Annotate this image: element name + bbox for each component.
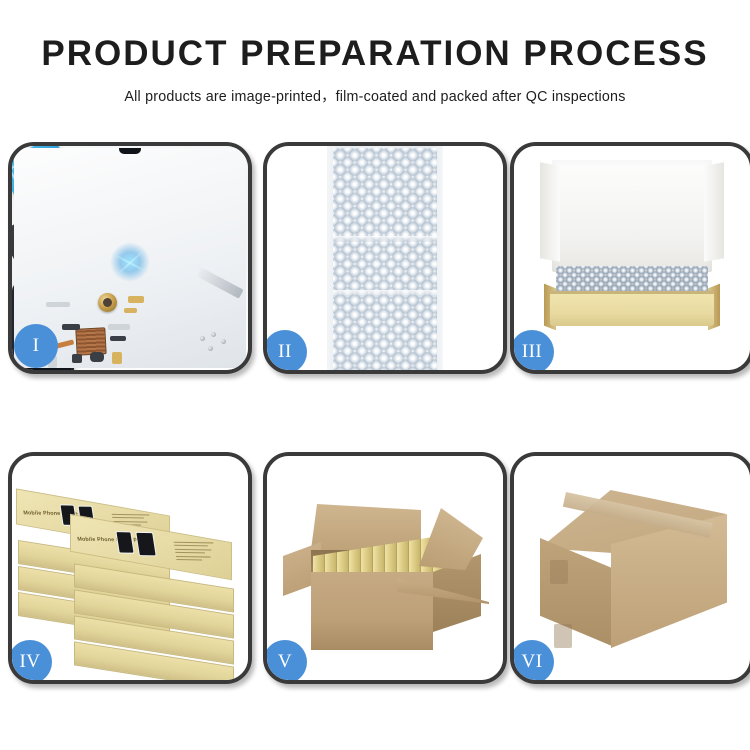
process-step-grid: ●●: [0, 142, 750, 702]
step-6-image: [514, 456, 750, 680]
infographic-page: PRODUCT PREPARATION PROCESS All products…: [0, 0, 750, 750]
phone-image-on-box: [115, 531, 134, 554]
camera-module-part: [72, 354, 82, 363]
page-title: PRODUCT PREPARATION PROCESS: [0, 36, 750, 71]
step-panel-4: Mobile Phone Spare Parts Mobile Phone Sp…: [8, 452, 252, 684]
step-badge-4: IV: [8, 640, 52, 684]
step-badge-2: II: [263, 330, 307, 374]
phone-image-on-box: [135, 532, 157, 557]
speaker-part: [90, 352, 104, 362]
wrap-seam: [333, 236, 437, 242]
page-subtitle: All products are image-printed，film-coat…: [0, 85, 750, 106]
step-panel-3: III: [510, 142, 750, 374]
lid-side-flap-left: [540, 162, 560, 262]
step-panel-6: VI: [510, 452, 750, 684]
step-2-image: [267, 146, 503, 370]
bracket-part: [108, 324, 130, 330]
white-lid-flap: [552, 160, 712, 272]
bubble-texture: [333, 148, 437, 370]
connector-part: [46, 302, 70, 307]
lid-side-flap-right: [704, 162, 724, 262]
battery-connector-part: [112, 352, 122, 364]
carton-left-face: [540, 538, 612, 646]
carton-tab: [554, 624, 572, 648]
step-panel-2: II: [263, 142, 507, 374]
step-badge-6: VI: [510, 640, 554, 684]
step-panel-5: V: [263, 452, 507, 684]
yellow-box-front: [550, 294, 714, 326]
step-3-image: [514, 146, 750, 370]
header: PRODUCT PREPARATION PROCESS All products…: [0, 0, 750, 106]
button-part: [110, 336, 126, 341]
ic-chip-part: [62, 324, 80, 330]
step-panel-1: ●●: [8, 142, 252, 374]
carton-tab: [550, 560, 568, 584]
gold-flex-part: [124, 308, 137, 313]
wrap-seam: [333, 290, 437, 296]
step-5-image: [267, 456, 503, 680]
step-badge-3: III: [510, 330, 554, 374]
step-badge-5: V: [263, 640, 307, 684]
chip-grid-part: [75, 327, 106, 356]
copper-coil-part: [98, 293, 117, 312]
step-badge-1: I: [14, 324, 58, 368]
screws-group: [200, 332, 234, 354]
bubble-wrap-sleeve: [327, 146, 443, 370]
step-4-image: Mobile Phone Spare Parts Mobile Phone Sp…: [12, 456, 248, 680]
gold-flex-part: [128, 296, 144, 303]
box-spec-lines: [174, 542, 223, 563]
